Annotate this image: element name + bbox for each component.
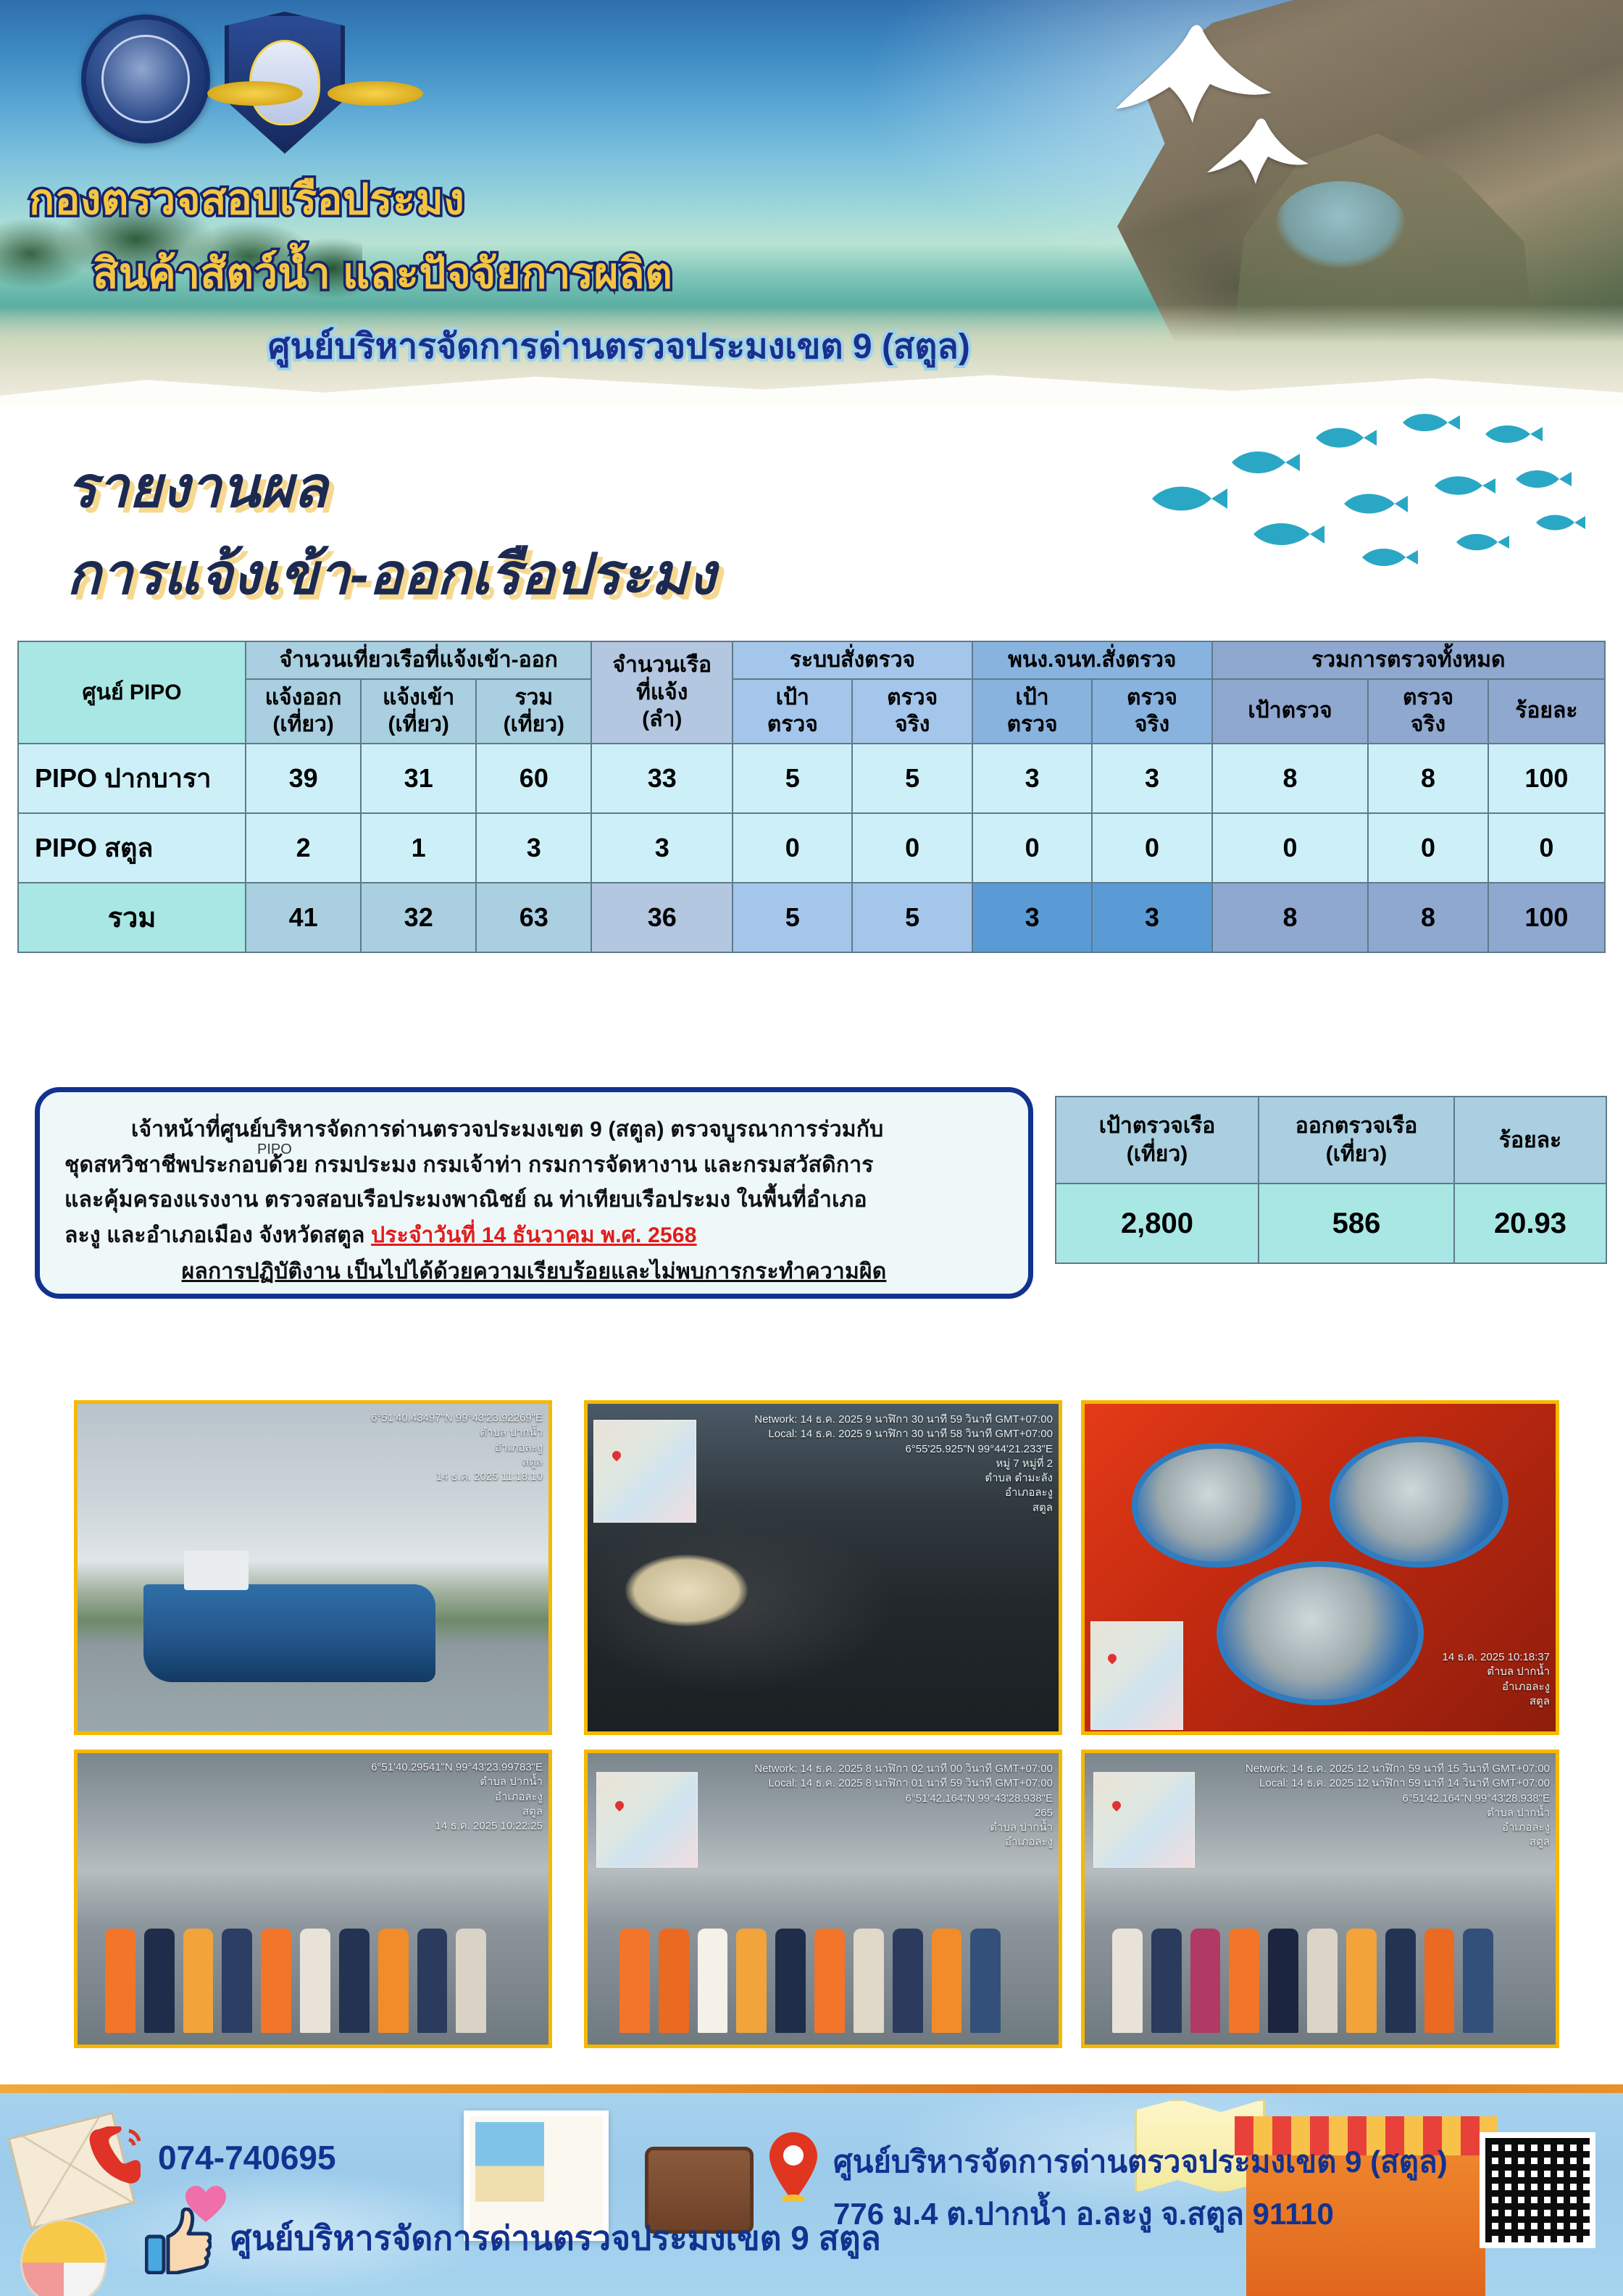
cell-actual-trips: 586 (1259, 1184, 1454, 1263)
row-label: PIPO ปากบารา (18, 744, 246, 813)
th-tot-label: รวม (514, 686, 553, 710)
beach-ball-icon (20, 2219, 107, 2296)
cell-value: 3 (1092, 883, 1211, 952)
th-vessel-count: จำนวนเรือ ที่แจ้ง (ลำ) (591, 641, 733, 744)
footer-accent-strip (0, 2084, 1623, 2093)
cell-value: 0 (1092, 813, 1211, 883)
th-target-trips-l1: เป้าตรวจเรือ (1099, 1114, 1216, 1138)
footer-office-name: ศูนย์บริหารจัดการด่านตรวจประมงเขต 9 (สตู… (833, 2138, 1448, 2186)
th-off-target: เป้า ตรวจ (972, 679, 1092, 744)
hero-org-line-2: สินค้าสัตว์น้ำ และปัจจัยการผลิต (93, 239, 672, 307)
cell-value: 0 (1368, 813, 1488, 883)
th-sys-actual-l2: จริง (895, 712, 930, 736)
cell-value: 3 (591, 813, 733, 883)
photo-gallery: 6°51'40.43497"N 99°43'23.92269"E ตำบล ปา… (0, 1334, 1623, 2058)
seagull-icon-small (1203, 116, 1311, 188)
narrative-line-3: และคุ้มครองแรงงาน ตรวจสอบเรือประมงพาณิชย… (64, 1183, 1004, 1218)
th-all-target: เป้าตรวจ (1212, 679, 1369, 744)
fish-school-decoration (1145, 406, 1609, 594)
th-sys-target: เป้า ตรวจ (733, 679, 852, 744)
phone-icon (85, 2126, 143, 2187)
cell-value: 1 (361, 813, 476, 883)
th-target-trips: เป้าตรวจเรือ (เที่ยว) (1056, 1097, 1259, 1184)
department-of-fisheries-seal (81, 14, 210, 143)
footer-address: 776 ม.4 ต.ปากน้ำ อ.ละงู จ.สตูล 91110 (833, 2190, 1334, 2238)
th-sys-target-l1: เป้า (776, 686, 809, 710)
th-all-actual: ตรวจ จริง (1368, 679, 1488, 744)
th-actual-trips: ออกตรวจเรือ (เที่ยว) (1259, 1097, 1454, 1184)
cell-value: 3 (476, 813, 591, 883)
th-tot-unit: (เที่ยว) (504, 712, 564, 736)
th-vessel-l2: ที่แจ้ง (636, 681, 688, 704)
cell-value: 0 (1212, 813, 1369, 883)
th-all-actual-l2: จริง (1411, 712, 1445, 736)
cell-side-percent: 20.93 (1454, 1184, 1606, 1263)
th-departures: แจ้งออก (เที่ยว) (246, 679, 361, 744)
photo-crew-inspection-2: Network: 14 ธ.ค. 2025 8 นาฬิกา 02 นาที 0… (584, 1750, 1062, 2048)
th-pipo-center: ศูนย์ PIPO (18, 641, 246, 744)
th-group-officer-order: พนง.จนท.สั่งตรวจ (972, 641, 1212, 679)
th-off-actual-l2: จริง (1135, 712, 1169, 736)
thumbs-up-icon (145, 2208, 212, 2274)
cell-target-trips: 2,800 (1056, 1184, 1259, 1263)
th-all-actual-l1: ตรวจ (1403, 686, 1453, 710)
pipo-inline-tag: PIPO (257, 1141, 292, 1158)
report-title-line-1: รายงานผล (67, 442, 327, 532)
row-label-total: รวม (18, 883, 246, 952)
footer-contact-bar: 074-740695 ศูนย์บริหารจัดการด่านตรวจประม… (0, 2084, 1623, 2296)
cell-value: 8 (1212, 883, 1369, 952)
th-off-actual-l1: ตรวจ (1127, 686, 1177, 710)
photo-overlay-text: 14 ธ.ค. 2025 10:18:37 ตำบล ปากน้ำ อำเภอล… (1443, 1650, 1550, 1709)
cell-value: 5 (852, 883, 972, 952)
report-title-block: รายงานผล การแจ้งเข้า-ออกเรือประมง (0, 424, 942, 620)
th-actual-trips-l1: ออกตรวจเรือ (1296, 1114, 1418, 1138)
photo-minimap-icon (596, 1772, 698, 1868)
th-sys-actual: ตรวจ จริง (852, 679, 972, 744)
cell-value: 3 (972, 744, 1092, 813)
cumulative-summary-table: เป้าตรวจเรือ (เที่ยว) ออกตรวจเรือ (เที่ย… (1055, 1096, 1606, 1264)
cell-value: 39 (246, 744, 361, 813)
cell-value: 2 (246, 813, 361, 883)
sea-arch (1275, 181, 1406, 268)
th-trips-total: รวม (เที่ยว) (476, 679, 591, 744)
cell-value: 5 (733, 744, 852, 813)
th-group-system-order: ระบบสั่งตรวจ (733, 641, 972, 679)
table-row: PIPO สตูล 2 1 3 3 0 0 0 0 0 0 0 (18, 813, 1605, 883)
th-target-trips-l2: (เที่ยว) (1127, 1142, 1188, 1166)
hero-banner: กองตรวจสอบเรือประมง สินค้าสัตว์น้ำ และปั… (0, 0, 1623, 406)
cell-value: 0 (852, 813, 972, 883)
row-label: PIPO สตูล (18, 813, 246, 883)
side-table-row: 2,800 586 20.93 (1056, 1184, 1606, 1263)
cell-value: 33 (591, 744, 733, 813)
cell-value: 3 (972, 883, 1092, 952)
photo-overlay-text: Network: 14 ธ.ค. 2025 8 นาฬิกา 02 นาที 0… (754, 1762, 1053, 1850)
report-title-line-2: การแจ้งเข้า-ออกเรือประมง (67, 529, 716, 619)
photo-minimap-icon (1093, 1772, 1195, 1868)
cell-value: 63 (476, 883, 591, 952)
th-actual-trips-l2: (เที่ยว) (1326, 1142, 1387, 1166)
th-off-target-l1: เป้า (1016, 686, 1049, 710)
th-sys-actual-l1: ตรวจ (887, 686, 938, 710)
photo-crew-inspection-1: 6°51'40.29541"N 99°43'23.99783"E ตำบล ปา… (74, 1750, 552, 2048)
cell-value: 5 (733, 883, 852, 952)
photo-fish-catch-bins: 14 ธ.ค. 2025 10:18:37 ตำบล ปากน้ำ อำเภอล… (1081, 1400, 1559, 1735)
hero-org-line-1: กองตรวจสอบเรือประมง (29, 165, 464, 233)
cell-value: 60 (476, 744, 591, 813)
th-arrivals: แจ้งเข้า (เที่ยว) (361, 679, 476, 744)
th-group-total-inspection: รวมการตรวจทั้งหมด (1212, 641, 1605, 679)
th-group-trips: จำนวนเที่ยวเรือที่แจ้งเข้า-ออก (246, 641, 591, 679)
table-row-total: รวม 41 32 63 36 5 5 3 3 8 8 100 (18, 883, 1605, 952)
photo-overlay-text: Network: 14 ธ.ค. 2025 9 นาฬิกา 30 นาที 5… (754, 1413, 1053, 1515)
qr-code[interactable] (1480, 2132, 1595, 2248)
report-date: ประจำวันที่ 14 ธันวาคม พ.ศ. 2568 (371, 1223, 697, 1247)
hero-center-line: ศูนย์บริหารจัดการด่านตรวจประมงเขต 9 (สตู… (268, 319, 970, 374)
photo-overlay-text: 6°51'40.29541"N 99°43'23.99783"E ตำบล ปา… (371, 1760, 543, 1834)
th-sys-target-l2: ตรวจ (767, 712, 818, 736)
th-arr-label: แจ้งเข้า (383, 686, 454, 710)
narrative-line-4-text: ละงู และอำเภอเมือง จังหวัดสตูล (64, 1223, 365, 1247)
crowd-figures (96, 1899, 530, 2033)
cell-value: 41 (246, 883, 361, 952)
cell-value: 100 (1488, 744, 1605, 813)
cell-value: 32 (361, 883, 476, 952)
badge-wing-left (207, 81, 303, 106)
cell-value: 36 (591, 883, 733, 952)
narrative-box: PIPO เจ้าหน้าที่ศูนย์บริหารจัดการด่านตรว… (35, 1087, 1033, 1299)
cell-value: 8 (1212, 744, 1369, 813)
th-side-percent: ร้อยละ (1454, 1097, 1606, 1184)
narrative-line-2: ชุดสหวิชาชีพประกอบด้วย กรมประมง กรมเจ้าท… (64, 1148, 1004, 1184)
table-row: PIPO ปากบารา 39 31 60 33 5 5 3 3 8 8 100 (18, 744, 1605, 813)
th-percent: ร้อยละ (1488, 679, 1605, 744)
narrative-conclusion: ผลการปฏิบัติงาน เป็นไปได้ด้วยความเรียบร้… (64, 1255, 1004, 1290)
th-off-actual: ตรวจ จริง (1092, 679, 1211, 744)
photo-fishing-nets: Network: 14 ธ.ค. 2025 9 นาฬิกา 30 นาที 5… (584, 1400, 1062, 1735)
main-statistics-table: ศูนย์ PIPO จำนวนเที่ยวเรือที่แจ้งเข้า-ออ… (17, 641, 1606, 953)
th-dep-unit: (เที่ยว) (272, 712, 333, 736)
cell-value: 3 (1092, 744, 1211, 813)
photo-minimap-icon (1090, 1621, 1183, 1730)
cell-value: 8 (1368, 744, 1488, 813)
narrative-line-4: ละงู และอำเภอเมือง จังหวัดสตูล ประจำวันท… (64, 1218, 1004, 1254)
photo-overlay-text: Network: 14 ธ.ค. 2025 12 นาฬิกา 59 นาที … (1246, 1762, 1550, 1850)
th-arr-unit: (เที่ยว) (388, 712, 448, 736)
cell-value: 0 (972, 813, 1092, 883)
footer-page-name: ศูนย์บริหารจัดการด่านตรวจประมงเขต 9 สตูล (230, 2212, 881, 2265)
cell-value: 100 (1488, 883, 1605, 952)
seagull-icon (1109, 22, 1275, 130)
photo-minimap-icon (593, 1420, 696, 1523)
badge-wing-right (327, 81, 423, 106)
cell-value: 0 (1488, 813, 1605, 883)
location-pin-icon (769, 2132, 817, 2202)
footer-phone-number[interactable]: 074-740695 (158, 2138, 336, 2177)
th-vessel-l1: จำนวนเรือ (612, 653, 712, 677)
th-vessel-l3: (ลำ) (642, 707, 682, 731)
photo-overlay-text: 6°51'40.43497"N 99°43'23.92269"E ตำบล ปา… (371, 1411, 543, 1484)
crowd-figures (606, 1899, 1040, 2033)
cell-value: 31 (361, 744, 476, 813)
th-dep-label: แจ้งออก (265, 686, 342, 710)
cell-value: 0 (733, 813, 852, 883)
th-off-target-l2: ตรวจ (1007, 712, 1058, 736)
cell-value: 8 (1368, 883, 1488, 952)
narrative-line-1: เจ้าหน้าที่ศูนย์บริหารจัดการด่านตรวจประม… (64, 1112, 1004, 1148)
photo-fishing-vessel: 6°51'40.43497"N 99°43'23.92269"E ตำบล ปา… (74, 1400, 552, 1735)
crowd-figures (1103, 1899, 1537, 2033)
photo-dock-inspection-3: Network: 14 ธ.ค. 2025 12 นาฬิกา 59 นาที … (1081, 1750, 1559, 2048)
cell-value: 5 (852, 744, 972, 813)
